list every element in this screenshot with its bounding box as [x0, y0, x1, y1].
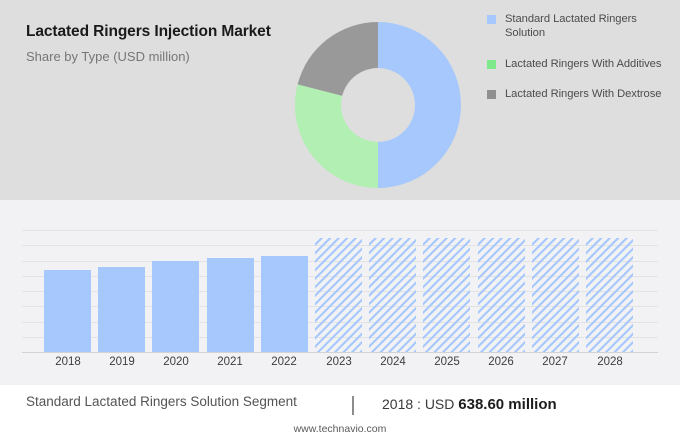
x-axis-labels: 2018201920202021202220232024202520262027…	[22, 356, 658, 378]
legend-swatch-standard	[487, 15, 496, 24]
bar-2027[interactable]	[532, 238, 579, 352]
bar-2019[interactable]	[98, 267, 145, 352]
bar-2020[interactable]	[152, 261, 199, 352]
bar-2024[interactable]	[369, 238, 416, 352]
donut-hole	[341, 68, 415, 142]
bar-2022[interactable]	[261, 256, 308, 352]
bar-2023[interactable]	[315, 238, 362, 352]
x-axis-label-2024: 2024	[363, 356, 423, 368]
legend-item-standard[interactable]: Standard Lactated Ringers Solution	[487, 12, 667, 41]
footer-value-prefix: 2018 : USD	[382, 396, 458, 412]
page-subtitle: Share by Type (USD million)	[26, 49, 276, 66]
legend-label-dextrose: Lactated Ringers With Dextrose	[505, 87, 661, 101]
footer-segment-label: Standard Lactated Ringers Solution Segme…	[26, 393, 326, 410]
header-band: Lactated Ringers Injection Market Share …	[0, 0, 680, 200]
page-title: Lactated Ringers Injection Market	[26, 22, 276, 42]
x-axis-label-2026: 2026	[471, 356, 531, 368]
legend-swatch-additives	[487, 60, 496, 69]
x-axis-label-2020: 2020	[146, 356, 206, 368]
bar-chart-plot	[22, 230, 658, 352]
donut-chart-svg	[295, 22, 461, 188]
bar-2028[interactable]	[586, 238, 633, 352]
legend-label-additives: Lactated Ringers With Additives	[505, 57, 661, 71]
bar-2021[interactable]	[207, 258, 254, 352]
footer-divider	[352, 396, 354, 415]
footer-value-highlight: 638.60 million	[458, 396, 556, 413]
bar-chart-panel: 2018201920202021202220232024202520262027…	[0, 200, 680, 385]
legend-item-additives[interactable]: Lactated Ringers With Additives	[487, 57, 667, 71]
x-axis-label-2027: 2027	[525, 356, 585, 368]
footer-url: www.technavio.com	[0, 423, 680, 435]
x-axis-label-2021: 2021	[200, 356, 260, 368]
x-axis-label-2023: 2023	[309, 356, 369, 368]
chart-legend: Standard Lactated Ringers Solution Lacta…	[487, 12, 667, 117]
bar-2026[interactable]	[478, 238, 525, 352]
bar-2018[interactable]	[44, 270, 91, 352]
legend-label-standard: Standard Lactated Ringers Solution	[505, 12, 667, 41]
x-axis-label-2019: 2019	[92, 356, 152, 368]
donut-chart	[295, 22, 461, 188]
x-axis-line	[22, 352, 658, 353]
x-axis-label-2028: 2028	[580, 356, 640, 368]
gridline	[22, 230, 658, 231]
infographic-root: Lactated Ringers Injection Market Share …	[0, 0, 680, 440]
footer-value: 2018 : USD 638.60 million	[382, 396, 557, 413]
x-axis-label-2025: 2025	[417, 356, 477, 368]
legend-item-dextrose[interactable]: Lactated Ringers With Dextrose	[487, 87, 667, 101]
legend-swatch-dextrose	[487, 90, 496, 99]
x-axis-label-2018: 2018	[38, 356, 98, 368]
bar-2025[interactable]	[423, 238, 470, 352]
title-block: Lactated Ringers Injection Market Share …	[26, 22, 276, 66]
x-axis-label-2022: 2022	[254, 356, 314, 368]
